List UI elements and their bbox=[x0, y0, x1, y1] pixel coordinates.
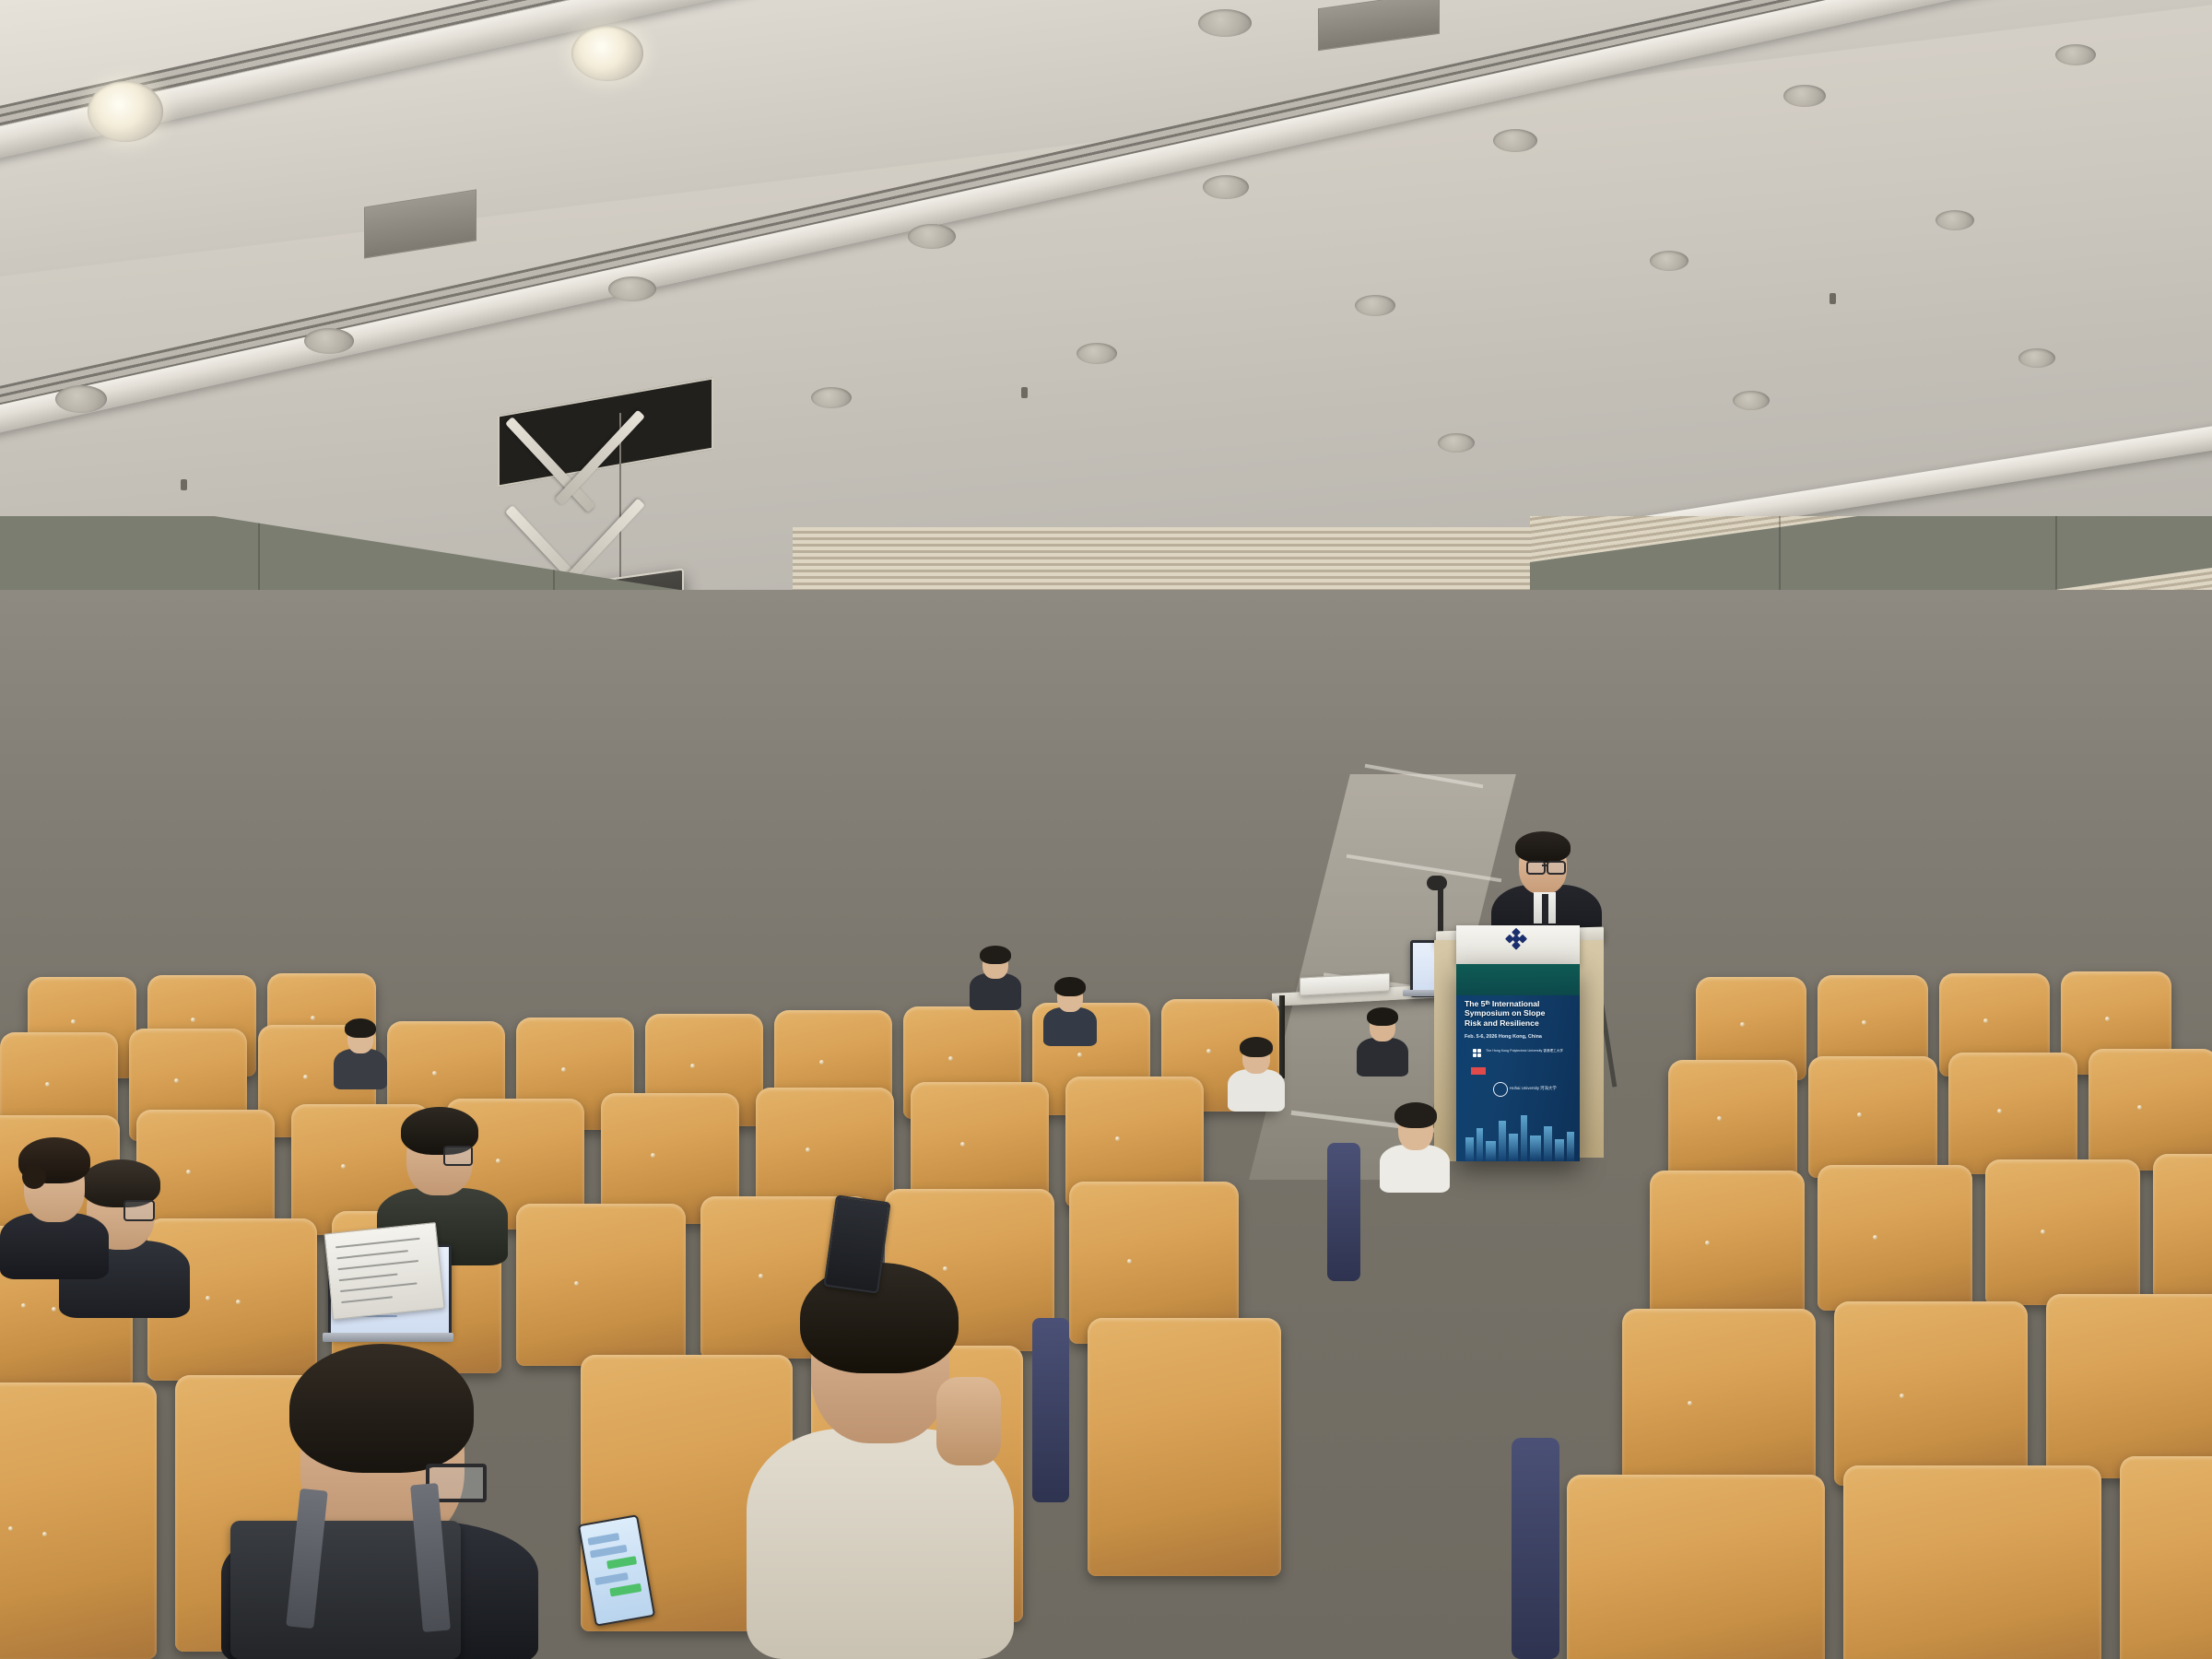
downlight bbox=[1935, 210, 1974, 230]
seat[interactable] bbox=[2153, 1154, 2212, 1300]
seat[interactable] bbox=[2046, 1294, 2212, 1478]
downlight bbox=[1438, 433, 1475, 453]
audience-member bbox=[1226, 1032, 1287, 1104]
downlight bbox=[1355, 295, 1395, 316]
downlight bbox=[571, 26, 643, 81]
downlight bbox=[1077, 343, 1117, 364]
seat[interactable] bbox=[1808, 1056, 1937, 1178]
sprinkler-head bbox=[1830, 293, 1836, 304]
seat[interactable] bbox=[0, 1382, 157, 1659]
seat[interactable] bbox=[1567, 1475, 1825, 1659]
hair-bun bbox=[22, 1165, 46, 1189]
eyeglasses bbox=[124, 1200, 155, 1221]
organiser-2: Hohai University 河海大学 bbox=[1510, 1086, 1574, 1091]
printed-handout[interactable] bbox=[324, 1222, 444, 1320]
downlight bbox=[908, 224, 956, 249]
audience-member bbox=[968, 940, 1023, 1005]
podium-side-panel bbox=[1580, 940, 1604, 1158]
seat[interactable] bbox=[1668, 1060, 1797, 1182]
skyline-graphic bbox=[1456, 1100, 1580, 1161]
podium-logo-plate bbox=[1456, 925, 1580, 964]
seat[interactable] bbox=[1088, 1318, 1281, 1576]
event-title: The 5ᵗʰ International Symposium on Slope… bbox=[1465, 999, 1575, 1028]
downlight bbox=[608, 276, 656, 301]
downlight bbox=[1198, 9, 1252, 37]
seat[interactable] bbox=[1622, 1309, 1816, 1493]
downlight bbox=[55, 385, 107, 413]
downlight bbox=[2055, 44, 2096, 65]
seat[interactable] bbox=[2088, 1049, 2212, 1171]
audience-member bbox=[0, 1124, 111, 1272]
lecture-hall-photo: 2 任务方向 西部特殊环境作用下大型结构低碳建造与服役安全 环境特性与低碳材料耐… bbox=[0, 0, 2212, 1659]
audience-member bbox=[1378, 1097, 1452, 1185]
sprinkler-head bbox=[1021, 387, 1028, 398]
downlight bbox=[1493, 129, 1537, 152]
seat[interactable] bbox=[1948, 1053, 2077, 1174]
seat[interactable] bbox=[1843, 1465, 2101, 1659]
seat[interactable] bbox=[1818, 1165, 1972, 1311]
seat-armrest bbox=[1032, 1318, 1069, 1502]
downlight bbox=[304, 328, 354, 354]
seat[interactable] bbox=[1834, 1301, 2028, 1486]
downlight bbox=[1783, 85, 1826, 107]
eyeglasses bbox=[443, 1146, 473, 1166]
audience-member-taking-photo bbox=[747, 1235, 1023, 1659]
event-date-location: Feb. 5-6, 2026 Hong Kong, China bbox=[1465, 1034, 1577, 1040]
sponsor-mark bbox=[1471, 1067, 1486, 1075]
podium-banner: The 5ᵗʰ International Symposium on Slope… bbox=[1456, 964, 1580, 1161]
organiser-note bbox=[1489, 1067, 1574, 1071]
hohai-logo-icon bbox=[1493, 1082, 1508, 1097]
sprinkler-head bbox=[181, 479, 187, 490]
polyu-logo-icon bbox=[1473, 1049, 1482, 1058]
seat[interactable] bbox=[1650, 1171, 1805, 1316]
raised-arm bbox=[936, 1377, 1001, 1465]
downlight bbox=[1733, 391, 1770, 410]
organiser-1: The Hong Kong Polytechnic University 香港理… bbox=[1486, 1049, 1572, 1053]
microphone-head bbox=[1427, 876, 1447, 890]
downlight bbox=[1650, 251, 1688, 271]
seat-armrest bbox=[1512, 1438, 1559, 1659]
seat-armrest bbox=[1327, 1143, 1360, 1281]
audience-member bbox=[332, 1014, 389, 1082]
downlight bbox=[2018, 348, 2055, 368]
downlight bbox=[811, 387, 852, 408]
audience-member bbox=[1355, 1003, 1410, 1069]
seat[interactable] bbox=[2120, 1456, 2212, 1659]
downlight bbox=[1203, 175, 1249, 199]
projector-lift-well bbox=[498, 377, 713, 487]
audience-member bbox=[1041, 972, 1099, 1039]
symposium-logo-icon bbox=[1500, 928, 1534, 962]
downlight bbox=[88, 81, 163, 142]
seat[interactable] bbox=[1985, 1159, 2140, 1305]
